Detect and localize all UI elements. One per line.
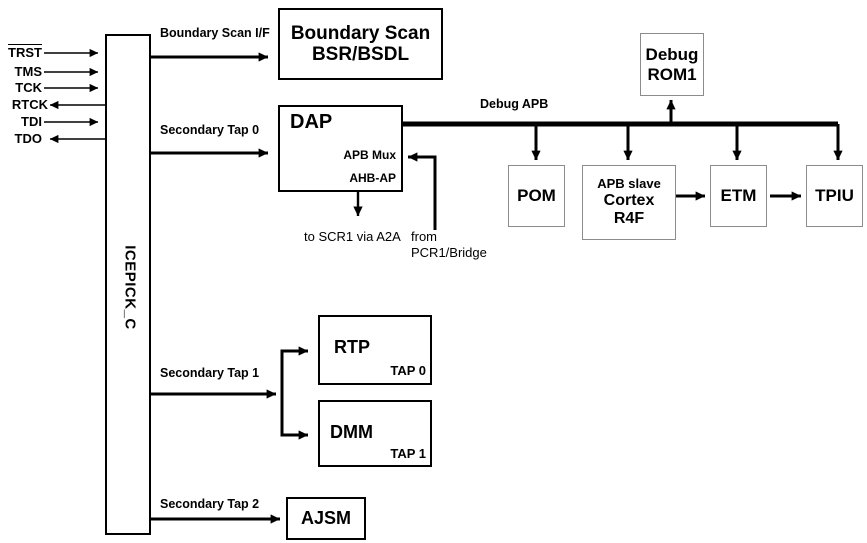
signal-label-tms: TMS [0,64,42,79]
block-dap-tag-ahb-ap: AHB-AP [283,171,396,185]
block-cortex-r4f-line-3: R4F [614,210,644,228]
annotation-from-pcr1-line-1: from [411,229,437,244]
block-ajsm-label: AJSM [301,508,351,528]
block-debug-rom1-line-2: ROM1 [647,65,696,84]
block-icepick-c-label: ICEPICK_C [122,230,139,346]
label-boundary-scan-if: Boundary Scan I/F [160,26,270,40]
jtag-signal-wires [44,53,105,139]
annotation-to-scr1: to SCR1 via A2A [304,229,401,244]
block-tpiu[interactable]: TPIU [806,165,863,227]
block-etm-label: ETM [721,186,757,205]
block-debug-rom1-line-1: Debug [646,45,699,64]
block-rtp-tap: TAP 0 [322,363,426,378]
wire-apb-drops [536,100,838,160]
wire-from-pcr1 [408,157,435,230]
block-dap-tag-apb-mux: APB Mux [283,148,396,162]
label-debug-apb: Debug APB [480,97,548,111]
block-dmm-tap: TAP 1 [322,446,426,461]
block-icepick-c[interactable]: ICEPICK_C [105,34,151,535]
block-pom-label: POM [517,186,556,205]
block-dap-title: DAP [290,111,332,134]
signal-label-tck: TCK [0,80,42,95]
block-diagram: TRST TMS TCK RTCK TDI TDO ICEPICK_C Boun… [0,0,867,543]
block-rtp-title: RTP [334,337,370,358]
signal-label-trst: TRST [0,44,42,60]
signal-label-tdi: TDI [0,114,42,129]
label-secondary-tap-0: Secondary Tap 0 [160,123,259,137]
block-boundary-scan-line-2: BSR/BSDL [312,44,409,65]
block-etm[interactable]: ETM [710,165,767,227]
block-debug-rom1[interactable]: Debug ROM1 [640,33,704,96]
block-cortex-r4f-line-1: APB slave [597,177,661,192]
signal-label-rtck: RTCK [0,97,48,112]
block-boundary-scan-line-1: Boundary Scan [291,23,430,44]
block-cortex-r4f-line-2: Cortex [604,192,655,210]
signal-label-tdo: TDO [0,131,42,146]
block-tpiu-label: TPIU [815,186,854,205]
annotation-from-pcr1-line-2: PCR1/Bridge [411,245,487,260]
label-secondary-tap-2: Secondary Tap 2 [160,497,259,511]
label-secondary-tap-1: Secondary Tap 1 [160,366,259,380]
block-pom[interactable]: POM [508,165,565,227]
block-ajsm[interactable]: AJSM [286,497,366,540]
block-boundary-scan[interactable]: Boundary Scan BSR/BSDL [278,8,443,80]
block-cortex-r4f[interactable]: APB slave Cortex R4F [582,165,676,240]
wire-secondary-tap-1 [150,351,308,435]
block-dmm-title: DMM [330,422,373,443]
